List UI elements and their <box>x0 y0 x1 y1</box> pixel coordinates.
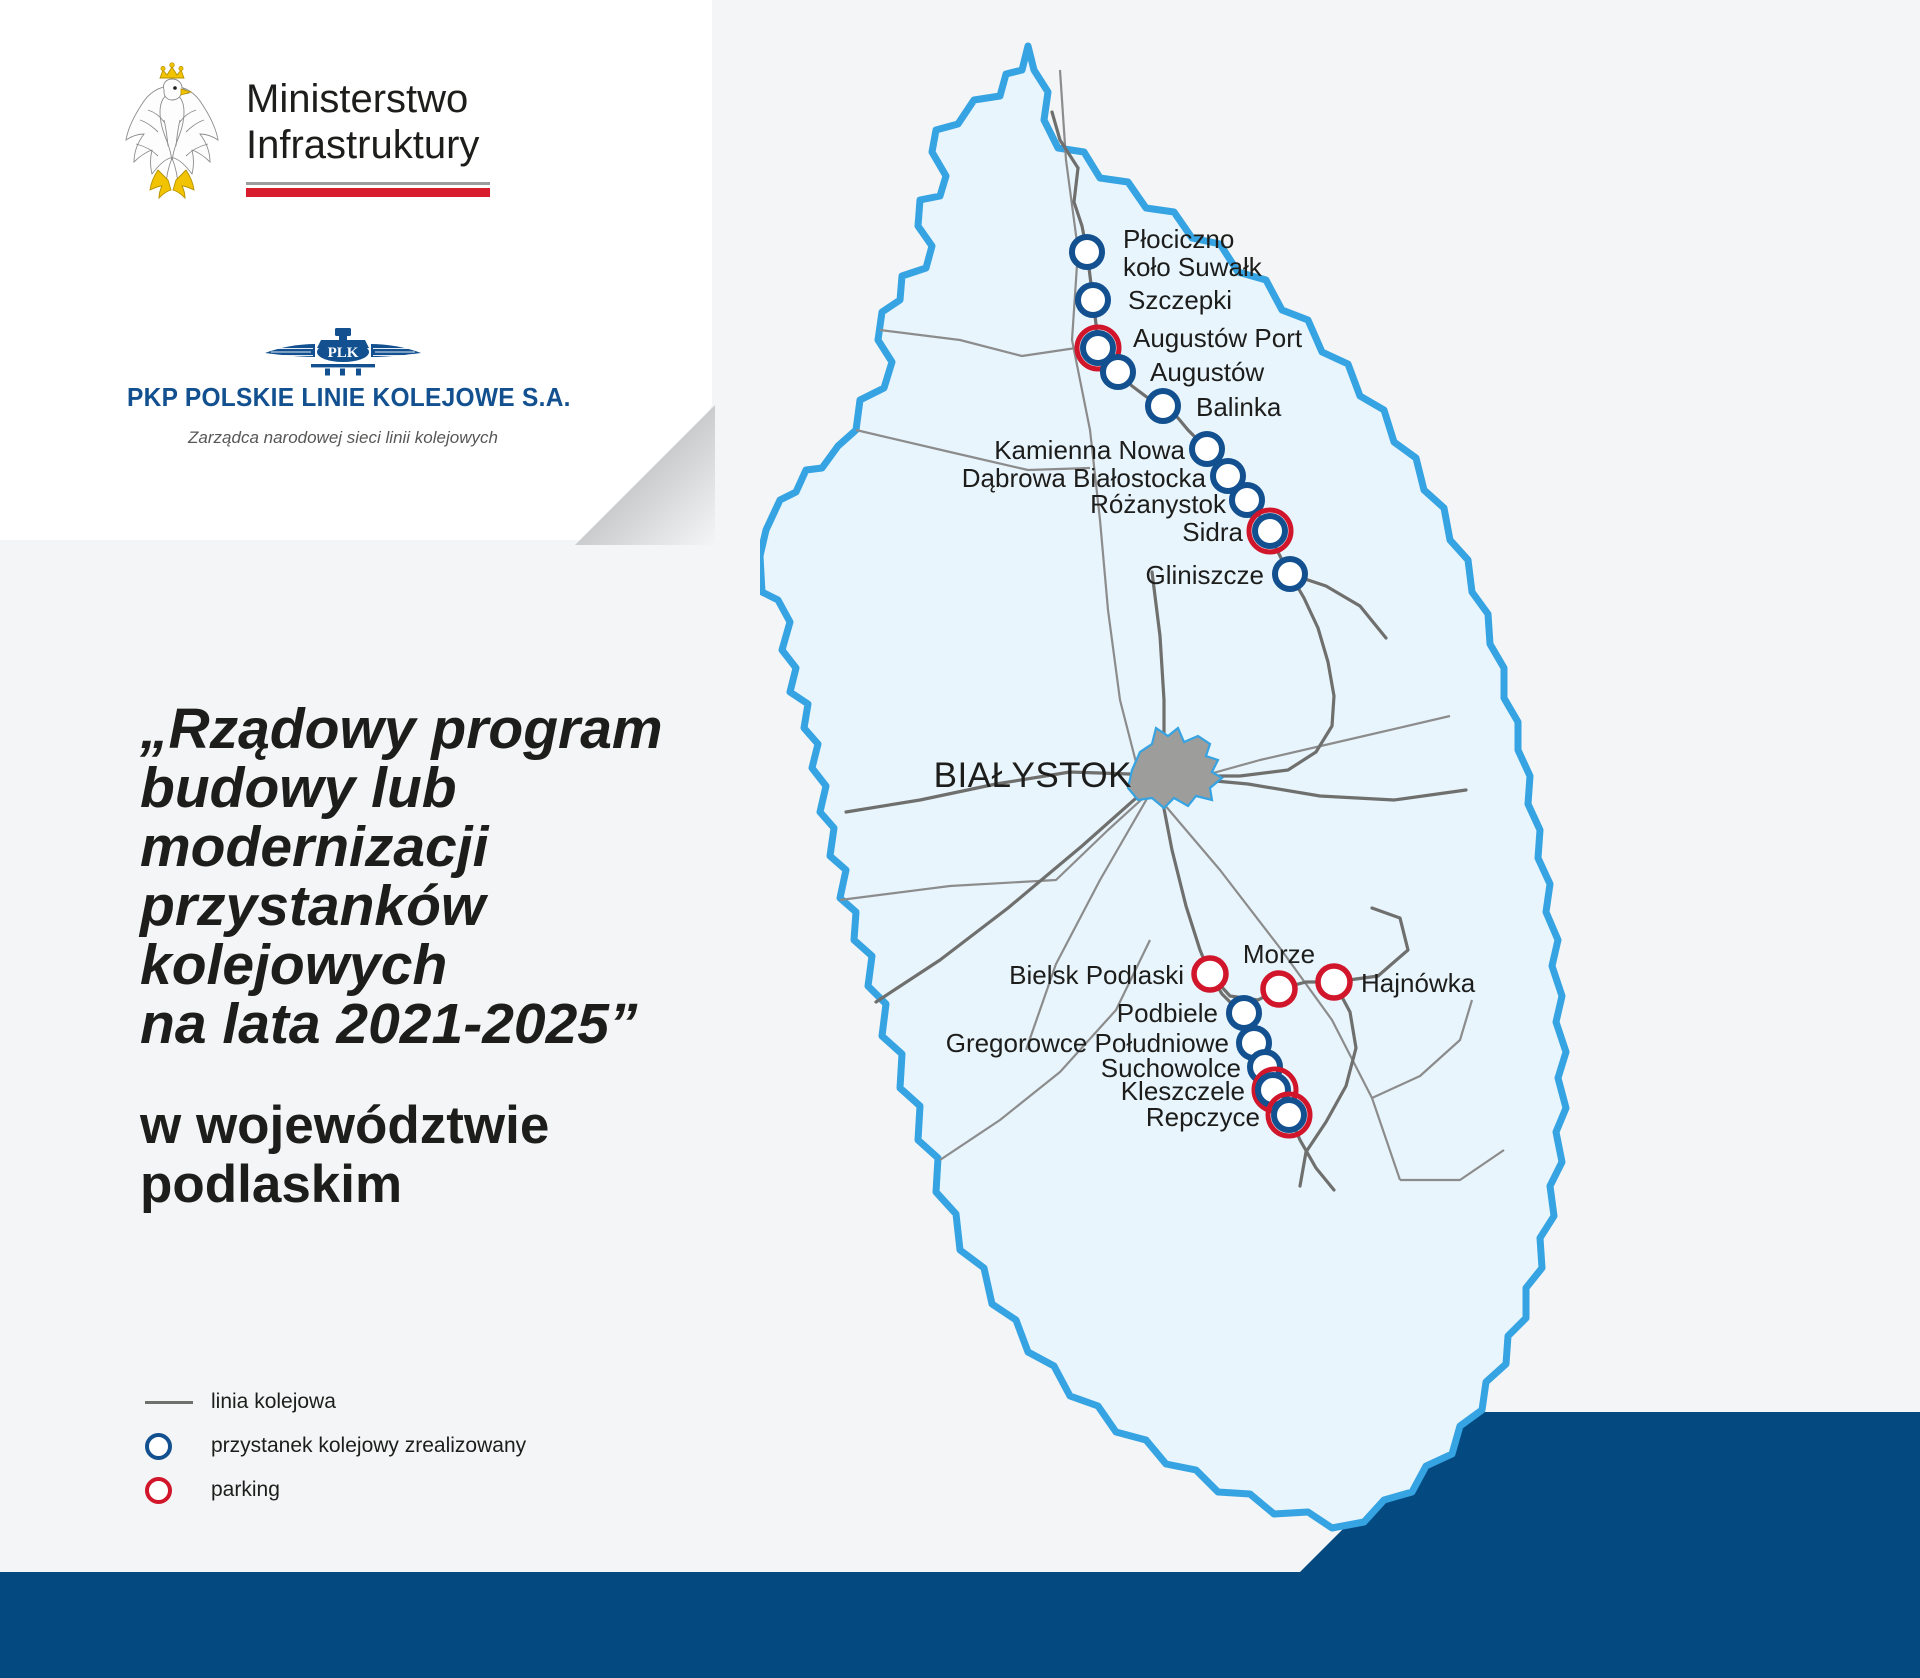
stop-label-augustow: Augustów <box>1150 357 1264 387</box>
stop-label-repczyce: Repczyce <box>1146 1102 1260 1132</box>
ministry-rule-red <box>246 188 490 197</box>
stop-marker-plociczno[interactable] <box>1072 237 1102 267</box>
stop-marker-kamienna-nowa[interactable] <box>1192 434 1222 464</box>
pkp-company-name: PKP POLSKIE LINIE KOLEJOWE S.A. <box>127 384 559 413</box>
stop-label-rozanystok: Różanystok <box>1090 489 1227 519</box>
headline-line-5: kolejowych <box>140 936 780 995</box>
stop-label-podbiele: Podbiele <box>1117 998 1218 1028</box>
stop-label-morze: Morze <box>1243 939 1315 969</box>
stop-label-plociczno-line1: Płociczno <box>1123 224 1234 254</box>
headline-line-4: przystanków <box>140 877 780 936</box>
stop-marker-balinka[interactable] <box>1148 391 1178 421</box>
stop-label-gliniszcze: Gliniszcze <box>1146 560 1264 590</box>
legend-label-rail-line: linia kolejowa <box>211 1390 336 1414</box>
stop-label-sidra: Sidra <box>1182 517 1243 547</box>
ministry-logo-lockup: Ministerstwo Infrastruktury <box>118 62 490 202</box>
pkp-logo-lockup: PLK PKP POLSKIE LINIE KOLEJOWE S.A. Zarz… <box>118 326 568 448</box>
rail-line-symbol-icon <box>145 1401 211 1404</box>
navy-footer-band <box>0 1572 1920 1678</box>
headline-program-title: „Rządowy program budowy lub modernizacji… <box>140 700 780 1054</box>
stop-marker-podbiele[interactable] <box>1229 998 1259 1028</box>
blue-ring-stop-symbol-icon <box>145 1433 211 1460</box>
stop-label-bielsk-podlaski: Bielsk Podlaski <box>1009 960 1184 990</box>
stop-marker-rozanystok[interactable] <box>1232 485 1262 515</box>
ministry-rule-grey <box>246 182 490 185</box>
ministry-name-line1: Ministerstwo <box>246 76 490 122</box>
stop-label-hajnowka: Hajnówka <box>1361 968 1476 998</box>
stop-label-balinka: Balinka <box>1196 392 1282 422</box>
headline-line-1: „Rządowy program <box>140 700 780 759</box>
headline-block: „Rządowy program budowy lub modernizacji… <box>140 700 780 1214</box>
city-label-bialystok: BIAŁYSTOK <box>934 756 1132 795</box>
polish-eagle-emblem-icon <box>118 62 226 202</box>
parking-marker-hajnowka[interactable] <box>1318 966 1350 998</box>
map-legend: linia kolejowa przystanek kolejowy zreal… <box>145 1380 526 1512</box>
pkp-tagline: Zarządca narodowej sieci linii kolejowyc… <box>118 428 568 448</box>
parking-marker-morze[interactable] <box>1263 973 1295 1005</box>
parking-marker-bielsk-podlaski[interactable] <box>1194 958 1226 990</box>
map-svg: Płociczno koło Suwałk Szczepki Augustów … <box>760 0 1920 1560</box>
stop-label-plociczno-line2: koło Suwałk <box>1123 252 1263 282</box>
headline-line-6: na lata 2021-2025” <box>140 995 780 1054</box>
headline-line-3: modernizacji <box>140 818 780 877</box>
stop-label-szczepki: Szczepki <box>1128 285 1232 315</box>
stop-marker-repczyce[interactable] <box>1274 1100 1304 1130</box>
headline-region-line-2: podlaskim <box>140 1155 780 1214</box>
stop-marker-szczepki[interactable] <box>1078 285 1108 315</box>
stop-label-kamienna-nowa: Kamienna Nowa <box>994 435 1185 465</box>
red-ring-parking-symbol-icon <box>145 1477 211 1504</box>
podlaskie-region-map: Płociczno koło Suwałk Szczepki Augustów … <box>760 0 1920 1560</box>
headline-region: w województwie podlaskim <box>140 1096 780 1214</box>
ministry-name: Ministerstwo Infrastruktury <box>246 62 490 197</box>
legend-item-rail-line: linia kolejowa <box>145 1380 526 1424</box>
stop-marker-augustow[interactable] <box>1103 357 1133 387</box>
stop-label-augustow-port: Augustów Port <box>1133 323 1303 353</box>
legend-item-stop: przystanek kolejowy zrealizowany <box>145 1424 526 1468</box>
headline-region-line-1: w województwie <box>140 1096 780 1155</box>
legend-label-parking: parking <box>211 1478 280 1502</box>
legend-label-stop: przystanek kolejowy zrealizowany <box>211 1434 526 1458</box>
pkp-plk-winged-logo-icon: PLK <box>263 326 423 378</box>
stop-marker-gliniszcze[interactable] <box>1275 559 1305 589</box>
stop-marker-sidra[interactable] <box>1255 516 1285 546</box>
headline-line-2: budowy lub <box>140 759 780 818</box>
pkp-wing-text: PLK <box>328 345 359 361</box>
legend-item-parking: parking <box>145 1468 526 1512</box>
ministry-name-line2: Infrastruktury <box>246 122 490 168</box>
